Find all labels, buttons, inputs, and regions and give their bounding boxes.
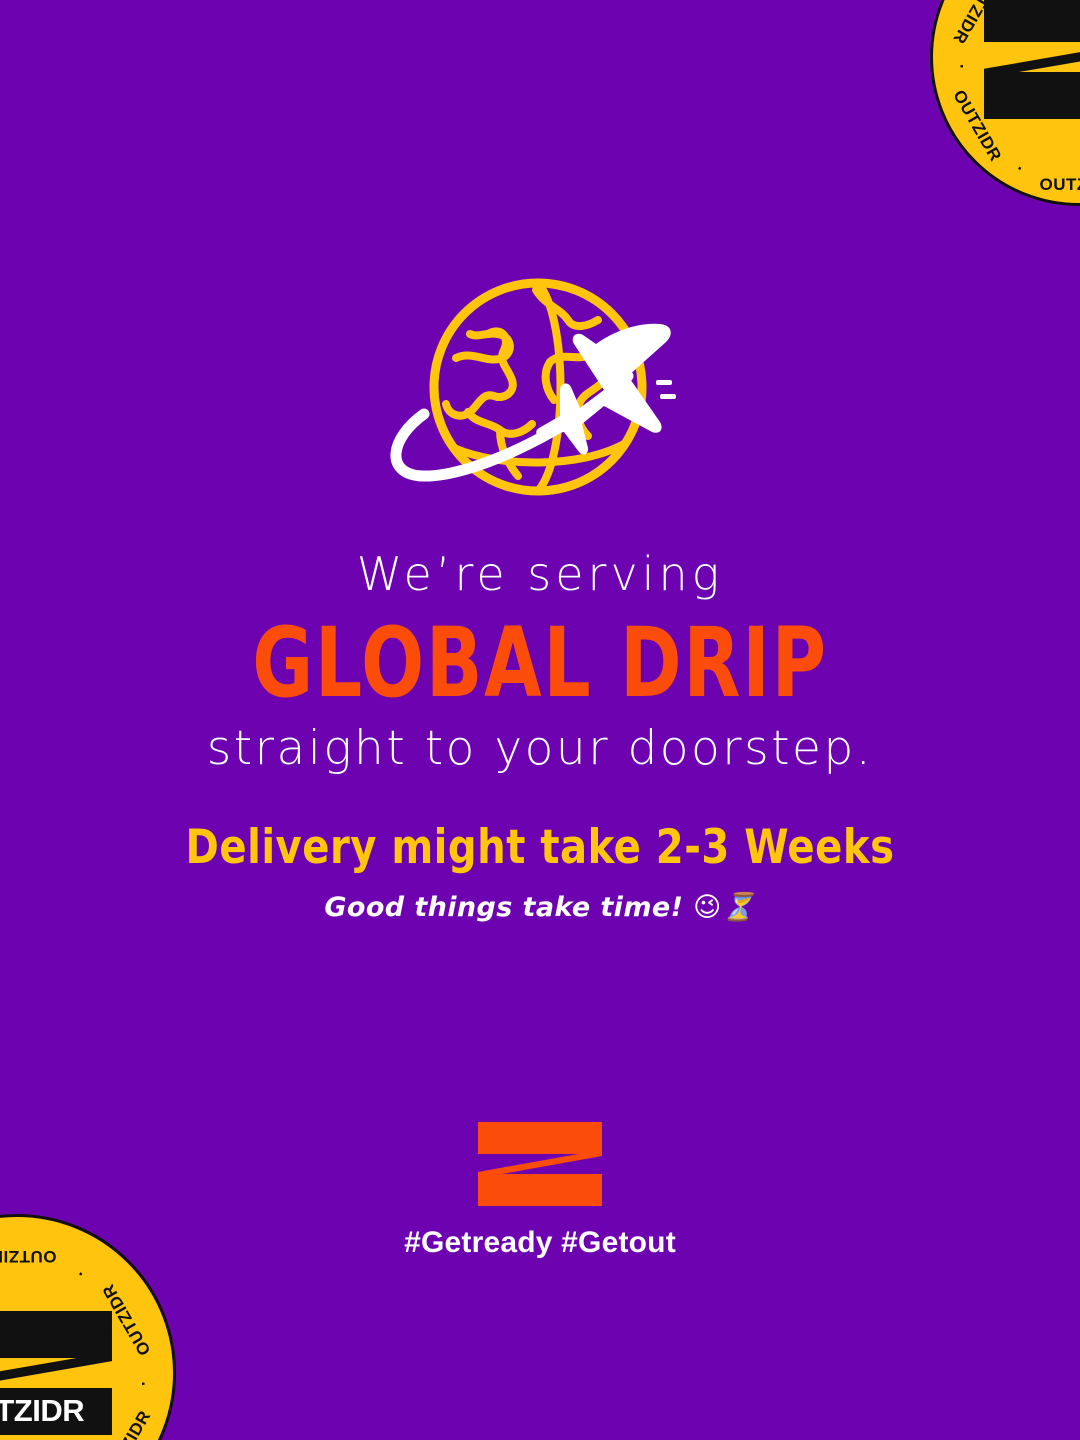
headline-block: We’re serving GLOBAL DRIP straight to yo… — [0, 548, 1080, 777]
z-bottom-bar — [0, 1388, 112, 1435]
z-bottom-bar — [478, 1174, 602, 1206]
footer-block: #Getready #Getout — [0, 1122, 1080, 1260]
brand-badge-top-right: OUTZIDR·OUTZIDR·OUTZIDR·OUTZIDR·OUTZIDR·… — [930, 0, 1080, 206]
z-bottom-bar — [984, 72, 1080, 119]
badge-core-top-right — [984, 0, 1080, 119]
promo-poster: OUTZIDR·OUTZIDR·OUTZIDR·OUTZIDR·OUTZIDR·… — [0, 0, 1080, 1440]
subhead-text: straight to your doorstep. — [0, 722, 1080, 776]
z-logo-icon — [0, 1311, 112, 1435]
z-logo-icon — [984, 0, 1080, 119]
eyebrow-text: We’re serving — [0, 548, 1080, 601]
badge-core-bottom-left: OUTZIDR — [0, 1311, 112, 1435]
delivery-time-text: Delivery might take 2-3 Weeks — [27, 822, 1053, 875]
brand-logo-z-icon — [478, 1122, 602, 1206]
hashtags-text: #Getready #Getout — [404, 1226, 676, 1260]
globe-with-airplane-icon — [360, 272, 720, 510]
z-top-bar — [984, 0, 1080, 42]
z-top-bar — [478, 1122, 602, 1154]
headline-text: GLOBAL DRIP — [76, 611, 1005, 717]
delivery-notice-block: Delivery might take 2-3 Weeks Good thing… — [0, 822, 1080, 923]
reassurance-text: Good things take time! 😉⏳ — [0, 891, 1080, 923]
z-top-bar — [0, 1311, 112, 1358]
